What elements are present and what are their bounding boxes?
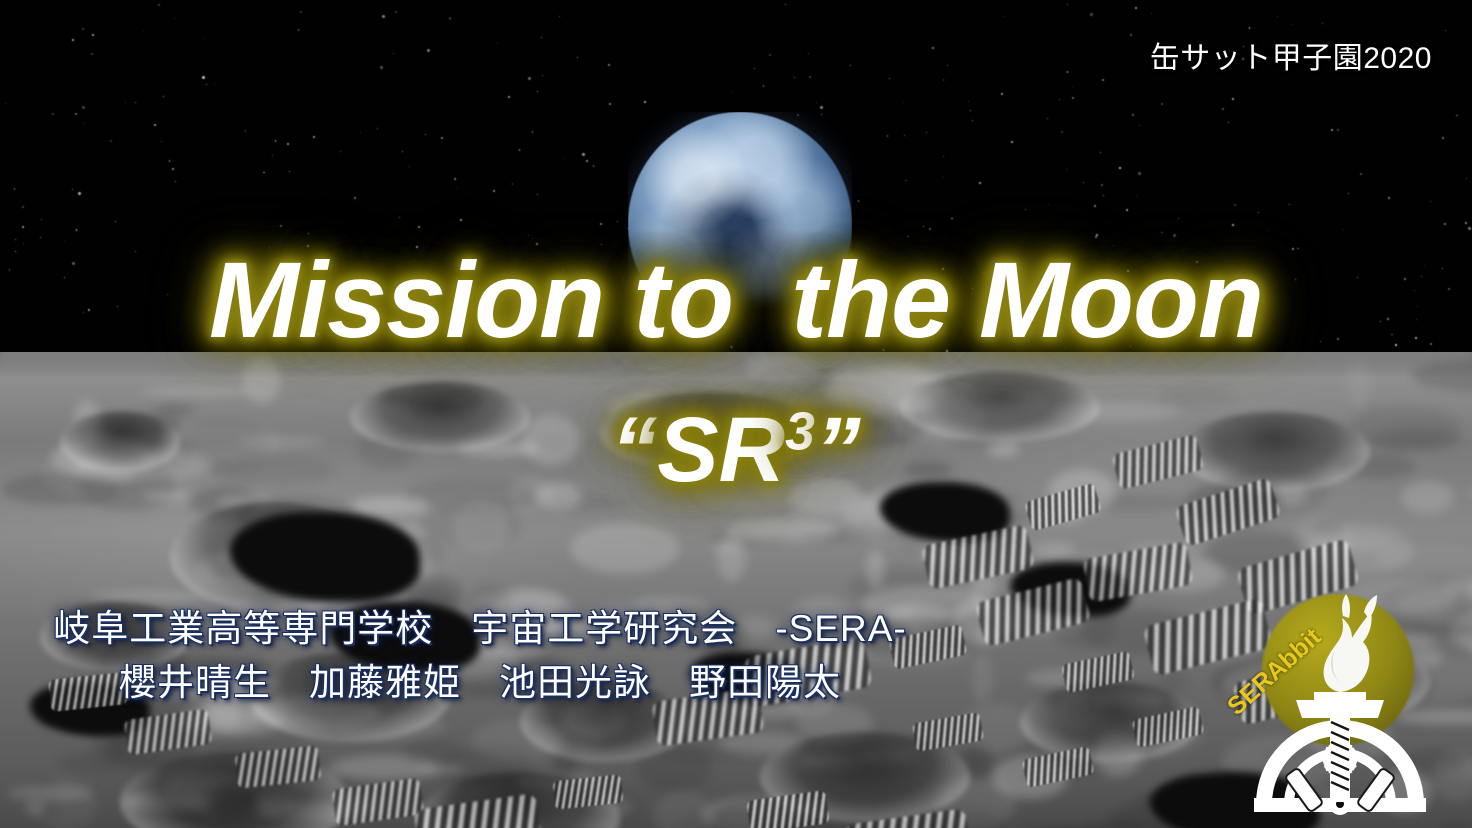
presentation-slide: 缶サット甲子園2020 Mission to the Moon “SR3” 岐阜…: [0, 0, 1472, 828]
member-names-line: 櫻井晴生 加藤雅姫 池田光詠 野田陽太: [0, 652, 960, 706]
subtitle-close-quote: ”: [815, 399, 861, 501]
subtitle-base: SR: [657, 399, 785, 501]
team-logo: SERAbbit: [1240, 592, 1472, 828]
logo-emblem-icon: [1240, 592, 1472, 828]
affiliation-line: 岐阜工業高等専門学校 宇宙工学研究会 -SERA-: [0, 598, 960, 652]
slide-subtitle: “SR3”: [0, 400, 1472, 501]
slide-title: Mission to the Moon: [0, 243, 1472, 356]
subtitle-open-quote: “: [611, 399, 657, 501]
event-name-tag: 缶サット甲子園2020: [1150, 33, 1432, 77]
subtitle-exponent: 3: [785, 402, 815, 461]
